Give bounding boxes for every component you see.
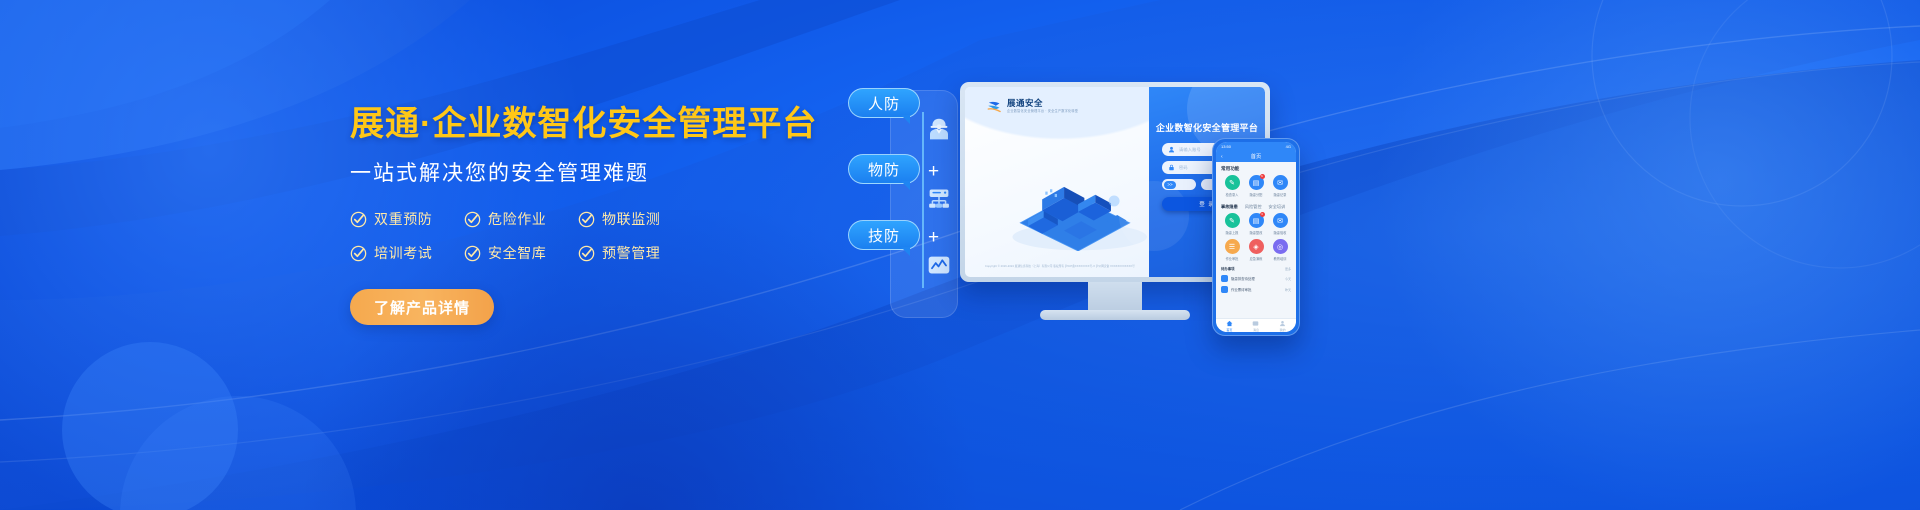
app-glyph: ✎ — [1229, 179, 1235, 187]
app-label: 隐患上报 — [1226, 230, 1239, 235]
phone-section-common: 常用功能 ✎ 检查录入 ▤ 6 — [1216, 162, 1296, 197]
product-logo: 展通安全 企业数智化安全管理平台 · 安全生产数字化转型 — [987, 99, 1078, 114]
feature-label: 安全智库 — [488, 243, 546, 263]
username-placeholder: 请输入账号 — [1179, 147, 1201, 153]
status-time: 13:50 — [1221, 144, 1231, 149]
list-item[interactable]: 作业票待审批 昨天 — [1221, 284, 1291, 295]
section-title: 常用功能 — [1221, 166, 1291, 172]
app-item[interactable]: ✎ 检查录入 — [1221, 175, 1243, 197]
item-meta: 今天 — [1285, 277, 1291, 281]
app-glyph: ✎ — [1229, 217, 1235, 225]
item-text: 作业票待审批 — [1231, 287, 1251, 292]
user-icon — [1168, 146, 1175, 153]
phone-screen: 13:50 4G ‹ 首页 常用功能 ✎ 检查录入 — [1216, 142, 1296, 332]
list-item: 培训考试 — [350, 243, 464, 263]
badge-count: 3 — [1260, 212, 1265, 217]
tab-message[interactable]: 消息 — [1252, 320, 1259, 332]
mobile-phone-mockup: 13:50 4G ‹ 首页 常用功能 ✎ 检查录入 — [1212, 138, 1300, 336]
monitor-base — [1040, 310, 1190, 320]
plus-separator-1: + — [928, 162, 939, 181]
app-label: 作业审批 — [1226, 256, 1239, 261]
login-blob-2 — [1119, 181, 1189, 251]
app-glyph: ◈ — [1253, 243, 1258, 251]
app-item[interactable]: ▤ 6 隐患分配 — [1245, 175, 1267, 197]
badge-count: 6 — [1260, 174, 1265, 179]
page-subtitle: 一站式解决您的安全管理难题 — [350, 157, 820, 187]
list-item: 物联监测 — [578, 209, 692, 229]
item-icon — [1221, 275, 1228, 282]
emergency-icon: ◈ — [1249, 239, 1264, 254]
tag-wufang[interactable]: 物防 — [848, 154, 920, 184]
feature-label: 危险作业 — [488, 209, 546, 229]
app-item[interactable]: ▤ 3 隐患整改 — [1245, 213, 1267, 235]
check-circle-icon — [464, 245, 481, 262]
logo-subtext: 企业数智化安全管理平台 · 安全生产数字化转型 — [1007, 109, 1078, 114]
edit-icon: ✎ — [1225, 213, 1240, 228]
todo-title: 待办事项 — [1221, 266, 1235, 271]
app-label: 应急演练 — [1250, 256, 1263, 261]
tab-label: 我的 — [1280, 328, 1286, 332]
app-grid: ✎ 检查录入 ▤ 6 隐患分配 — [1221, 175, 1291, 197]
check-circle-icon — [350, 245, 367, 262]
slider-captcha[interactable]: >> — [1162, 179, 1196, 190]
app-label: 隐患记录 — [1274, 192, 1287, 197]
device-network-icon — [924, 182, 954, 212]
home-icon — [1226, 320, 1233, 327]
check-circle-icon — [578, 211, 595, 228]
page-title: 展通·企业数智化安全管理平台 — [350, 104, 820, 144]
phone-tab-bar: 首页 消息 我的 — [1216, 318, 1296, 332]
app-glyph: ▤ — [1253, 179, 1260, 187]
phone-todo-list: 待办事项 更多 隐患排查待处理 今天 作业票待审批 昨天 — [1216, 261, 1296, 295]
message-icon — [1252, 320, 1259, 327]
tag-label: 技防 — [868, 225, 900, 246]
app-item[interactable]: ◎ 教育培训 — [1269, 239, 1291, 261]
lock-icon — [1168, 164, 1175, 171]
item-text: 隐患排查待处理 — [1231, 276, 1255, 281]
list-item: 危险作业 — [464, 209, 578, 229]
item-meta: 昨天 — [1285, 288, 1291, 292]
app-label: 隐患分配 — [1250, 192, 1263, 197]
more-link[interactable]: 更多 — [1285, 267, 1291, 271]
app-glyph: ◎ — [1277, 243, 1283, 251]
back-icon[interactable]: ‹ — [1221, 154, 1223, 160]
tab-label: 消息 — [1253, 328, 1259, 332]
login-title: 企业数智化安全管理平台 — [1149, 121, 1265, 134]
tab-home[interactable]: 首页 — [1226, 320, 1233, 332]
list-item: 预警管理 — [578, 243, 692, 263]
banner-hero: 展通·企业数智化安全管理平台 一站式解决您的安全管理难题 双重预防 危险作业 — [0, 0, 1920, 510]
section-title: 事故隐患 — [1221, 204, 1238, 210]
user-icon — [1279, 320, 1286, 327]
app-label: 隐患验收 — [1274, 230, 1287, 235]
feature-label: 培训考试 — [374, 243, 432, 263]
logo-text: 展通安全 — [1007, 99, 1078, 108]
password-placeholder: 密码 — [1179, 165, 1188, 171]
hero-copy: 展通·企业数智化安全管理平台 一站式解决您的安全管理难题 双重预防 危险作业 — [350, 104, 820, 325]
app-item[interactable]: ◈ 应急演练 — [1245, 239, 1267, 261]
slider-knob[interactable]: >> — [1164, 181, 1176, 189]
tab-profile[interactable]: 我的 — [1279, 320, 1286, 332]
list-item: 双重预防 — [350, 209, 464, 229]
app-glyph: ✉ — [1277, 179, 1283, 187]
zhantong-logo-icon — [987, 100, 1002, 113]
app-item[interactable]: ✉ 隐患记录 — [1269, 175, 1291, 197]
tag-renfang[interactable]: 人防 — [848, 88, 920, 118]
app-label: 检查录入 — [1226, 192, 1239, 197]
training-icon: ◎ — [1273, 239, 1288, 254]
approval-icon: ☰ — [1225, 239, 1240, 254]
tab-risk[interactable]: 风险管控 — [1245, 204, 1262, 210]
feature-label: 物联监测 — [602, 209, 660, 229]
feature-label: 预警管理 — [602, 243, 660, 263]
list-icon: ▤ 3 — [1249, 213, 1264, 228]
app-item[interactable]: ✉ 隐患验收 — [1269, 213, 1291, 235]
app-glyph: ✉ — [1277, 217, 1283, 225]
check-circle-icon — [350, 211, 367, 228]
app-item[interactable]: ☰ 作业审批 — [1221, 239, 1243, 261]
list-icon: ▤ 6 — [1249, 175, 1264, 190]
phone-section-hazard: 事故隐患 风险管控 安全培训 ✎ 隐患上报 ▤ — [1216, 200, 1296, 261]
analytics-chart-icon — [924, 250, 954, 280]
app-grid: ✎ 隐患上报 ▤ 3 隐患整改 — [1221, 213, 1291, 261]
hard-hat-worker-icon — [924, 114, 954, 144]
monitor-stand — [1088, 282, 1142, 310]
tag-label: 人防 — [868, 93, 900, 114]
app-item[interactable]: ✎ 隐患上报 — [1221, 213, 1243, 235]
tag-jifang[interactable]: 技防 — [848, 220, 920, 250]
list-header: 待办事项 更多 — [1221, 264, 1291, 273]
screen-footer-copy: Copyright © 2016-2024 展通信息科技（上海）有限公司 版权所… — [985, 265, 1165, 269]
section-tabs: 事故隐患 风险管控 安全培训 — [1221, 204, 1291, 210]
app-label: 隐患整改 — [1250, 230, 1263, 235]
tab-label: 首页 — [1226, 328, 1232, 332]
feature-list: 双重预防 危险作业 物联监测 — [350, 209, 820, 263]
tag-label: 物防 — [868, 159, 900, 180]
tab-training[interactable]: 安全培训 — [1269, 204, 1286, 210]
app-label: 教育培训 — [1274, 256, 1287, 261]
edit-icon: ✎ — [1225, 175, 1240, 190]
phone-nav-title: 首页 — [1251, 153, 1261, 160]
status-signal: 4G — [1286, 144, 1291, 149]
mail-icon: ✉ — [1273, 175, 1288, 190]
item-icon — [1221, 286, 1228, 293]
check-circle-icon — [578, 245, 595, 262]
feature-label: 双重预防 — [374, 209, 432, 229]
learn-more-button[interactable]: 了解产品详情 — [350, 289, 494, 325]
app-glyph: ☰ — [1229, 243, 1235, 251]
phone-status-bar: 13:50 4G — [1216, 142, 1296, 151]
check-circle-icon — [464, 211, 481, 228]
mail-icon: ✉ — [1273, 213, 1288, 228]
plus-separator-2: + — [928, 228, 939, 247]
phone-nav-bar: ‹ 首页 — [1216, 151, 1296, 162]
list-item[interactable]: 隐患排查待处理 今天 — [1221, 273, 1291, 284]
device-mockup-group: 人防 物防 + 技防 + — [840, 66, 1360, 396]
list-item: 安全智库 — [464, 243, 578, 263]
app-glyph: ▤ — [1253, 217, 1260, 225]
